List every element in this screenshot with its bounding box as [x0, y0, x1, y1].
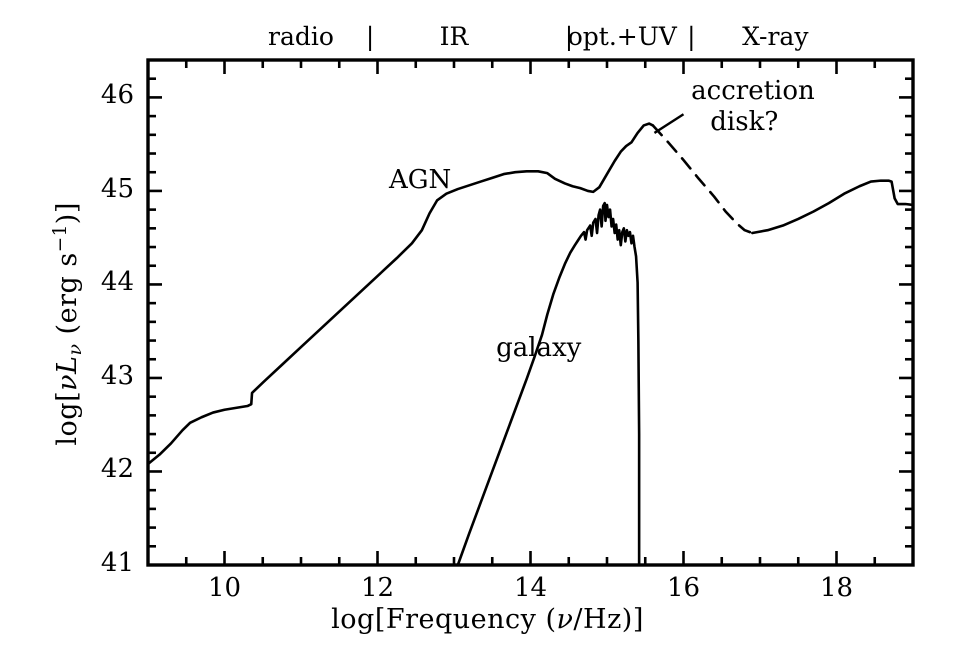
x-axis-title: log[Frequency (ν/Hz)] — [0, 604, 975, 635]
x-tick-label-10: 10 — [195, 573, 255, 603]
band-label-x-ray: X-ray — [665, 22, 885, 51]
y-tick-label-42: 42 — [78, 454, 134, 484]
curve-label-agn: AGN — [389, 165, 451, 195]
curve-galaxy — [458, 203, 639, 565]
accretion-disk-annotation-line1: accretion — [691, 76, 815, 106]
plot-canvas — [0, 0, 975, 650]
pointer-leader-line — [654, 114, 683, 133]
band-divider-2: | — [687, 22, 695, 51]
axis-ticks — [148, 60, 913, 565]
x-tick-label-18: 18 — [807, 573, 867, 603]
band-divider-1: | — [565, 22, 573, 51]
y-tick-label-41: 41 — [78, 548, 134, 578]
axes-frame — [148, 60, 913, 565]
x-tick-label-12: 12 — [348, 573, 408, 603]
annotation-pointer — [654, 114, 683, 133]
x-tick-label-14: 14 — [501, 573, 561, 603]
x-tick-label-16: 16 — [654, 573, 714, 603]
accretion-disk-annotation-line2: disk? — [710, 107, 778, 137]
curve-label-galaxy: galaxy — [496, 333, 581, 363]
y-tick-label-44: 44 — [78, 267, 134, 297]
y-tick-label-43: 43 — [78, 361, 134, 391]
y-tick-label-45: 45 — [78, 174, 134, 204]
y-tick-label-46: 46 — [78, 80, 134, 110]
curve-AGN-xray — [752, 181, 913, 233]
band-divider-0: | — [366, 22, 374, 51]
curve-AGN-dashed-disk — [653, 125, 752, 233]
sed-figure: log[Frequency (ν/Hz)] log[νLν (erg s−1)]… — [0, 0, 975, 650]
